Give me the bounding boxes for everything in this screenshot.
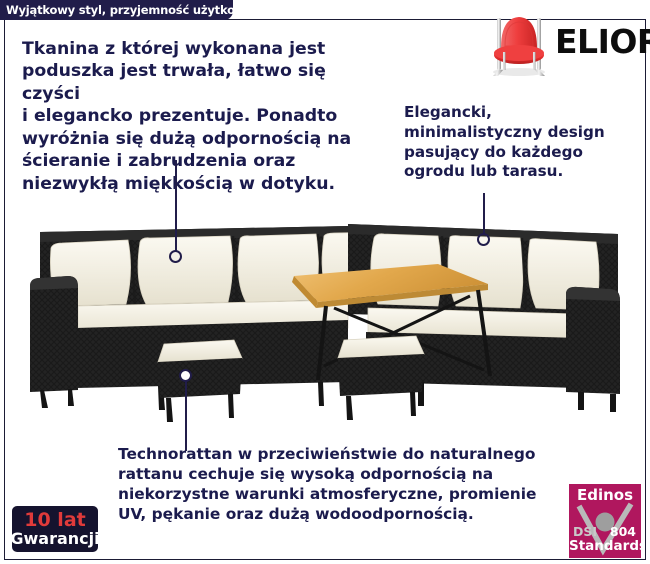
warranty-years: 10 lat <box>24 511 85 530</box>
callout-text-fabric: Tkanina z której wykonana jest poduszka … <box>22 38 352 195</box>
brand-logo: ELIOR <box>487 8 639 80</box>
callout-line <box>175 160 177 252</box>
callout-text-design: Elegancki, minimalistyczny design pasują… <box>404 103 639 182</box>
header-ribbon: Wyjątkowy styl, przyjemność użytkowania! <box>0 0 233 20</box>
header-ribbon-text: Wyjątkowy styl, przyjemność użytkowania! <box>6 3 277 17</box>
certificate-code-left: DSI <box>573 526 597 539</box>
red-chair-icon <box>487 8 551 78</box>
brand-name: ELIOR <box>555 25 650 58</box>
promo-infographic: Wyjątkowy styl, przyjemność użytkowania! <box>0 0 650 564</box>
callout-line <box>483 193 485 235</box>
certificate-code-right: 804 <box>610 526 636 539</box>
callout-text-technorattan: Technorattan w przeciwieństwie do natura… <box>118 444 638 524</box>
callout-line <box>185 375 187 451</box>
certificate-standards-label: Standards <box>569 540 641 554</box>
warranty-label: Gwarancji <box>10 531 99 547</box>
certificate-badge: Edinos DSI 804 Standards <box>569 484 641 558</box>
certificate-name: Edinos <box>569 488 641 503</box>
furniture-set-illustration <box>18 210 632 425</box>
warranty-badge: 10 lat Gwarancji <box>12 506 98 552</box>
